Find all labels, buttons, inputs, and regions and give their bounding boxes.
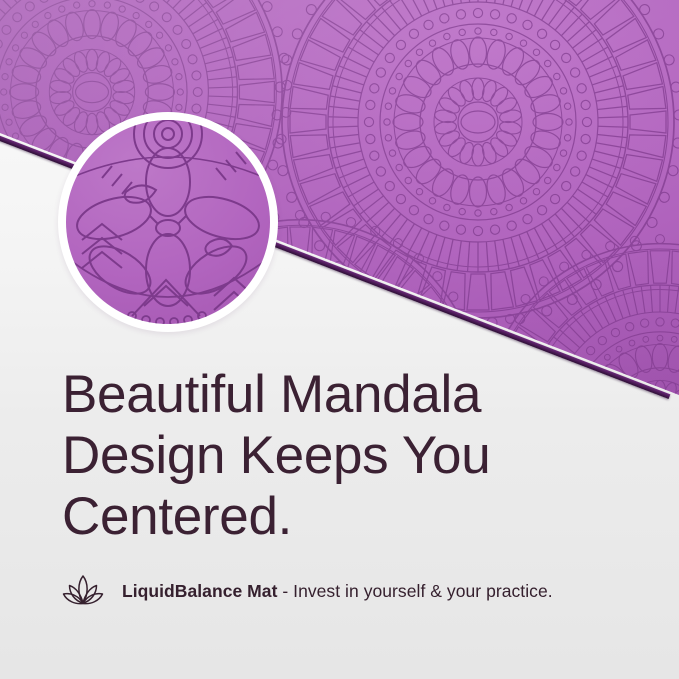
tagline-message: Invest in yourself & your practice. [293, 581, 553, 601]
tagline: LiquidBalance Mat - Invest in yourself &… [62, 572, 553, 610]
mandala-detail-zoom-content [66, 120, 270, 324]
tagline-separator: - [277, 581, 293, 601]
mandala-detail-lines [66, 120, 270, 324]
brand-name: LiquidBalance Mat [122, 581, 277, 601]
page-title: Beautiful Mandala Design Keeps You Cente… [62, 364, 622, 547]
mandala-detail-zoom-circle [58, 112, 278, 332]
product-image-canvas: Beautiful Mandala Design Keeps You Cente… [0, 0, 679, 679]
tagline-text: LiquidBalance Mat - Invest in yourself &… [122, 581, 553, 602]
lotus-icon [62, 572, 104, 610]
